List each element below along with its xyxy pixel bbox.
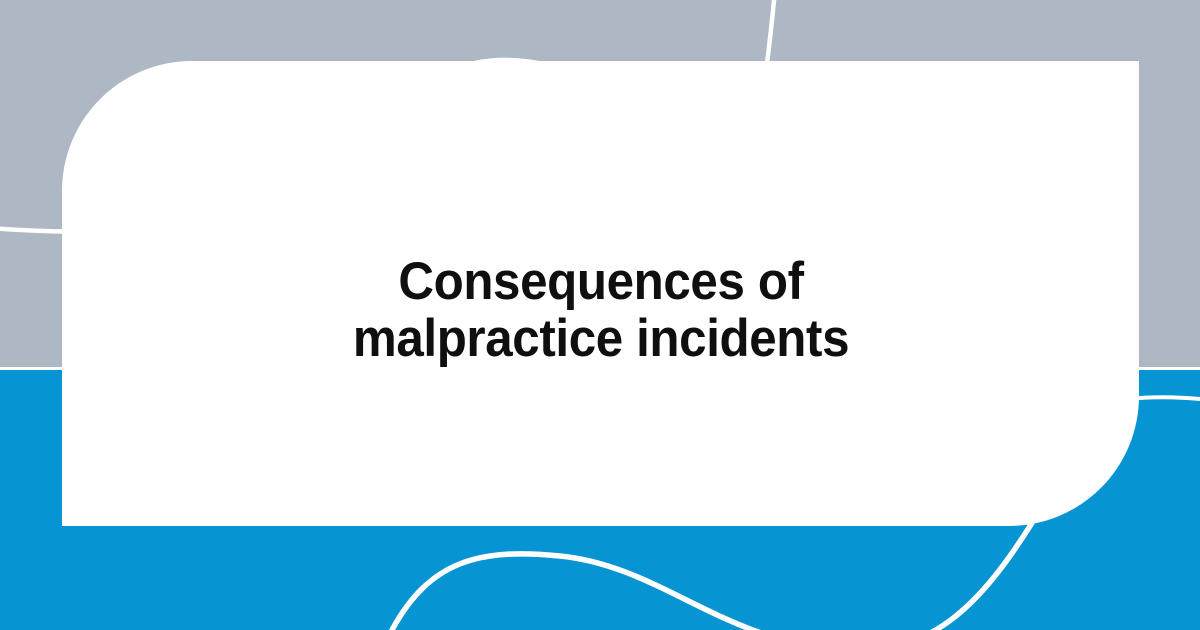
page-title: Consequences of malpractice incidents <box>275 220 926 366</box>
headline-container: Consequences of malpractice incidents <box>62 61 1139 526</box>
poster-canvas: Consequences of malpractice incidents <box>0 0 1200 630</box>
